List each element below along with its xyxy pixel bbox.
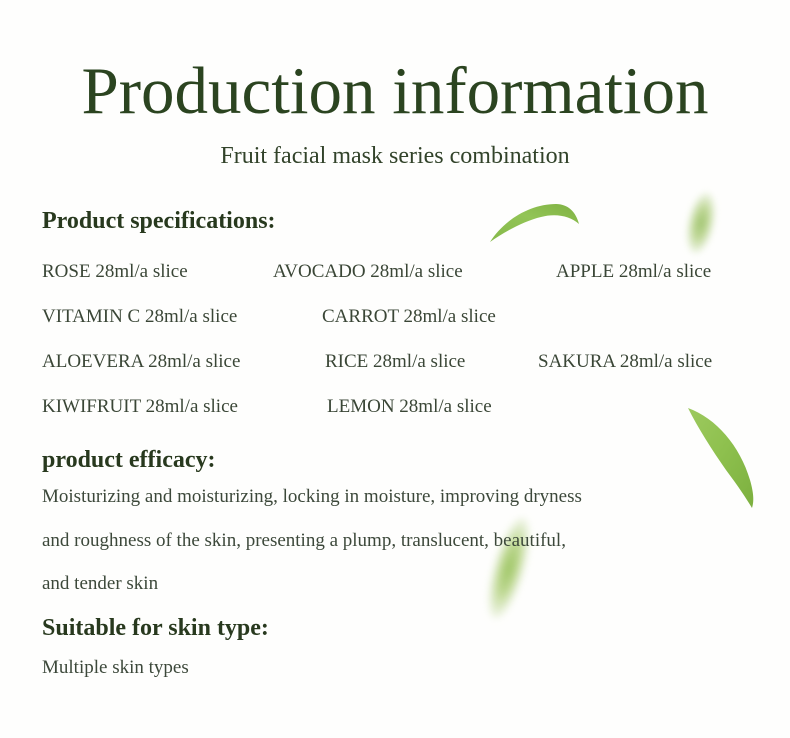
leaf-smudge-top-right-icon [682, 190, 720, 256]
spec-item-sakura: SAKURA 28ml/a slice [538, 352, 712, 371]
specifications-heading: Product specifications: [42, 209, 276, 233]
spec-item-carrot: CARROT 28ml/a slice [322, 307, 496, 326]
product-information-page: Production information Fruit facial mask… [0, 0, 790, 738]
efficacy-line-3: and tender skin [42, 574, 158, 593]
spec-item-kiwifruit: KIWIFRUIT 28ml/a slice [42, 397, 238, 416]
spec-item-vitamin-c: VITAMIN C 28ml/a slice [42, 307, 237, 326]
spec-item-rice: RICE 28ml/a slice [325, 352, 465, 371]
efficacy-line-1: Moisturizing and moisturizing, locking i… [42, 487, 582, 506]
efficacy-heading: product efficacy: [42, 448, 216, 472]
efficacy-line-2: and roughness of the skin, presenting a … [42, 531, 566, 550]
spec-item-avocado: AVOCADO 28ml/a slice [273, 262, 463, 281]
leaf-crescent-right-icon [682, 402, 768, 514]
page-title: Production information [0, 58, 790, 125]
skin-type-body: Multiple skin types [42, 658, 189, 677]
spec-item-lemon: LEMON 28ml/a slice [327, 397, 492, 416]
spec-item-aloevera: ALOEVERA 28ml/a slice [42, 352, 240, 371]
skin-type-heading: Suitable for skin type: [42, 616, 269, 640]
spec-item-rose: ROSE 28ml/a slice [42, 262, 188, 281]
leaf-crescent-top-center-icon [486, 196, 586, 250]
spec-item-apple: APPLE 28ml/a slice [556, 262, 711, 281]
page-subtitle: Fruit facial mask series combination [0, 144, 790, 168]
